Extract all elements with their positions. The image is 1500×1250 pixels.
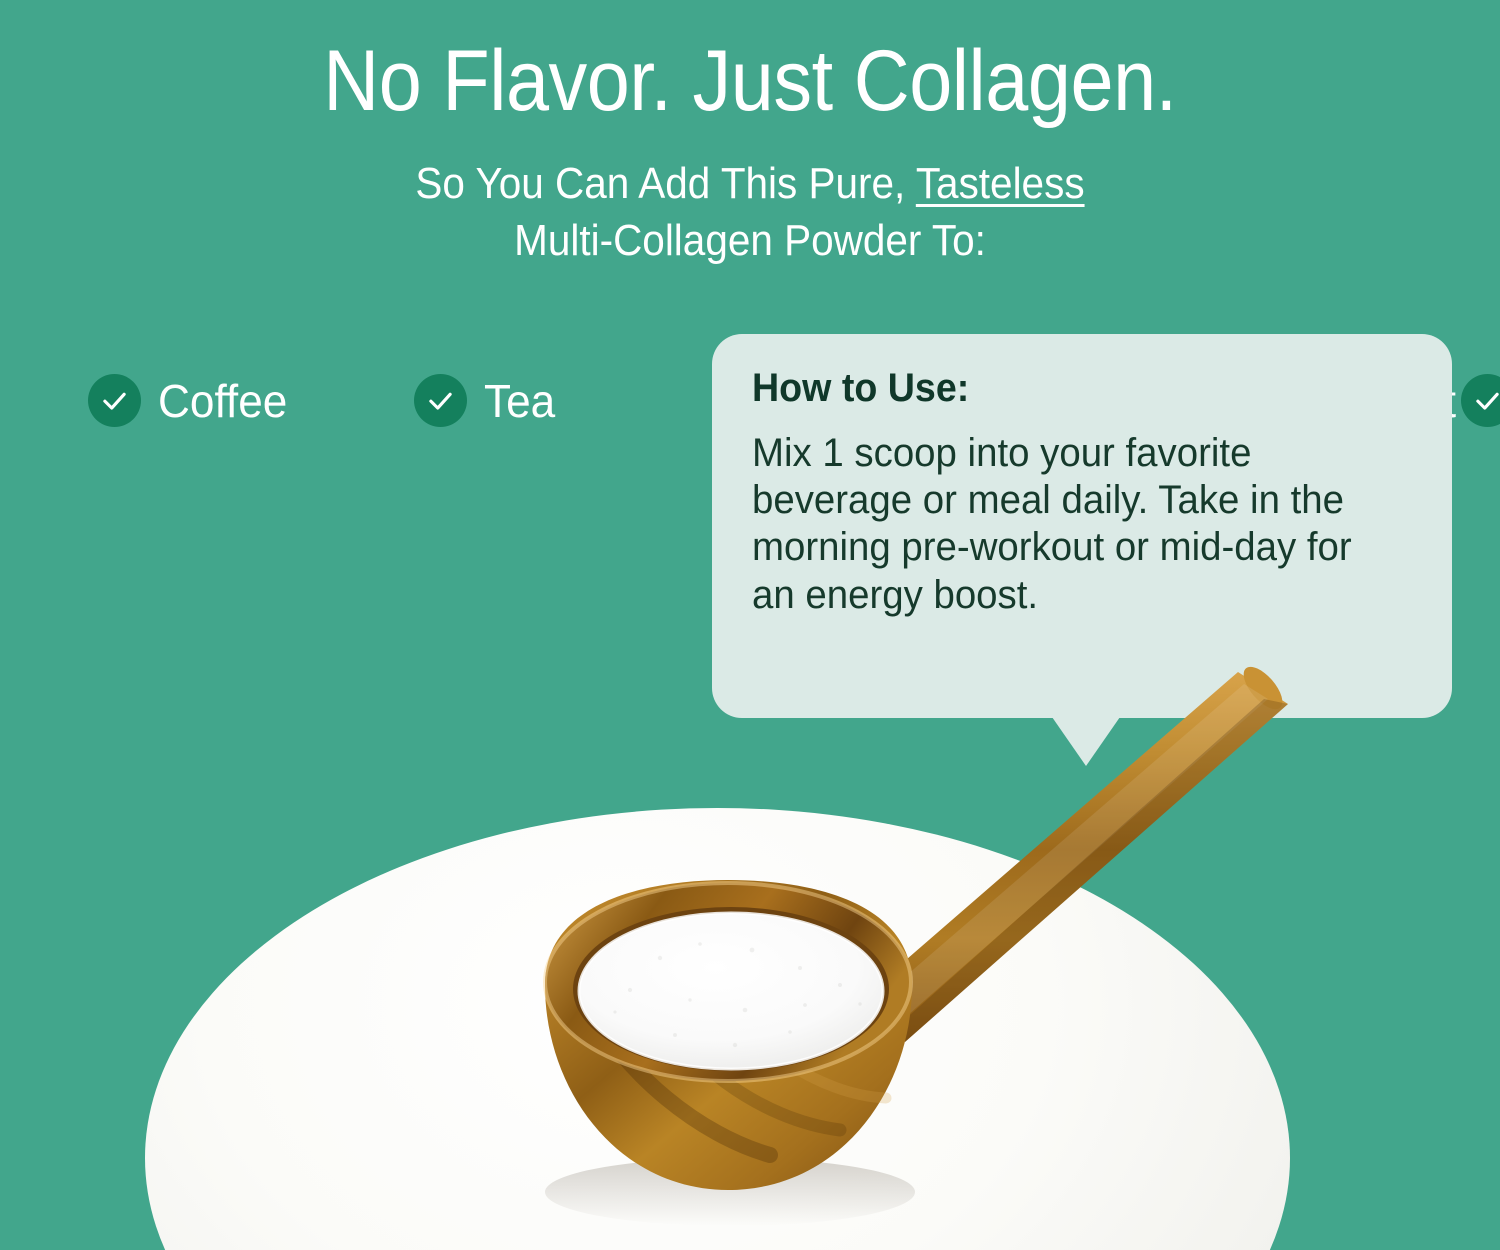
subtitle: So You Can Add This Pure, Tasteless Mult… xyxy=(60,155,1440,269)
check-icon xyxy=(1461,374,1500,427)
list-item-label: Coffee xyxy=(158,378,287,424)
callout-title: How to Use: xyxy=(752,368,1372,408)
list-item: Tea xyxy=(414,352,740,449)
check-icon xyxy=(414,374,467,427)
white-plate xyxy=(145,808,1290,1250)
promo-graphic: No Flavor. Just Collagen. So You Can Add… xyxy=(0,0,1500,1250)
callout-tail xyxy=(1052,717,1120,766)
list-item-label: Tea xyxy=(484,378,555,424)
subtitle-prefix: So You Can Add This Pure, xyxy=(415,159,915,208)
page-title: No Flavor. Just Collagen. xyxy=(75,38,1425,124)
subtitle-underlined-word: Tasteless xyxy=(916,159,1085,208)
subtitle-line-2: Multi-Collagen Powder To: xyxy=(60,212,1440,269)
benefits-checklist: Coffee Tea Water Milk Juice xyxy=(88,352,728,449)
callout-body: Mix 1 scoop into your favorite beverage … xyxy=(752,430,1386,619)
check-icon xyxy=(88,374,141,427)
list-item: Coffee xyxy=(88,352,414,449)
subtitle-line-1: So You Can Add This Pure, Tasteless xyxy=(60,155,1440,212)
list-item: Eggs xyxy=(1461,352,1500,449)
how-to-use-callout: How to Use: Mix 1 scoop into your favori… xyxy=(712,334,1452,718)
